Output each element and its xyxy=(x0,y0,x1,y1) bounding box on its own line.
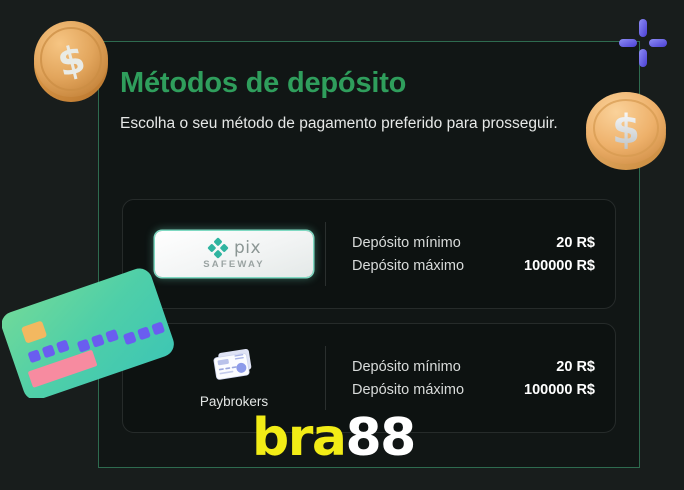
limit-row: Depósito máximo 100000 R$ xyxy=(352,382,595,398)
credit-card-icon xyxy=(211,347,257,385)
brand-logo: bra88 xyxy=(252,412,415,464)
limit-value: 100000 R$ xyxy=(524,382,595,398)
limit-row: Depósito mínimo 20 R$ xyxy=(352,235,595,251)
svg-text:$: $ xyxy=(53,36,89,85)
paybrokers-logo: Paybrokers xyxy=(200,347,268,409)
limit-value: 100000 R$ xyxy=(524,258,595,274)
deposit-limits: Depósito mínimo 20 R$ Depósito máximo 10… xyxy=(326,235,609,274)
brand-logo-part1: bra xyxy=(252,408,345,468)
brand-logo-part2: 88 xyxy=(345,408,414,468)
limit-value: 20 R$ xyxy=(556,359,595,375)
limit-row: Depósito mínimo 20 R$ xyxy=(352,359,595,375)
payment-method-brand: Paybrokers xyxy=(143,347,325,409)
payment-method-brand: pix SAFEWAY xyxy=(143,231,325,277)
pix-wordmark: pix xyxy=(234,240,261,257)
limit-label: Depósito máximo xyxy=(352,382,464,398)
limit-value: 20 R$ xyxy=(556,235,595,251)
page-subtitle: Escolha o seu método de pagamento prefer… xyxy=(120,112,575,136)
pix-safeway-logo: pix SAFEWAY xyxy=(155,231,313,277)
deposit-limits: Depósito mínimo 20 R$ Depósito máximo 10… xyxy=(326,359,609,398)
pix-logo-row: pix xyxy=(207,238,261,258)
page-title: Métodos de depósito xyxy=(120,68,590,100)
pix-diamond-icon xyxy=(207,237,229,259)
limit-label: Depósito mínimo xyxy=(352,359,461,375)
paybrokers-label: Paybrokers xyxy=(200,394,268,409)
limit-label: Depósito mínimo xyxy=(352,235,461,251)
limit-row: Depósito máximo 100000 R$ xyxy=(352,258,595,274)
limit-label: Depósito máximo xyxy=(352,258,464,274)
header: Métodos de depósito Escolha o seu método… xyxy=(120,68,590,136)
pix-safeway-sublabel: SAFEWAY xyxy=(203,259,265,270)
payment-method-card-pix-safeway[interactable]: pix SAFEWAY Depósito mínimo 20 R$ Depósi… xyxy=(122,199,616,309)
deposit-methods-screen: Métodos de depósito Escolha o seu método… xyxy=(0,0,684,490)
payment-methods-list: pix SAFEWAY Depósito mínimo 20 R$ Depósi… xyxy=(122,199,616,433)
